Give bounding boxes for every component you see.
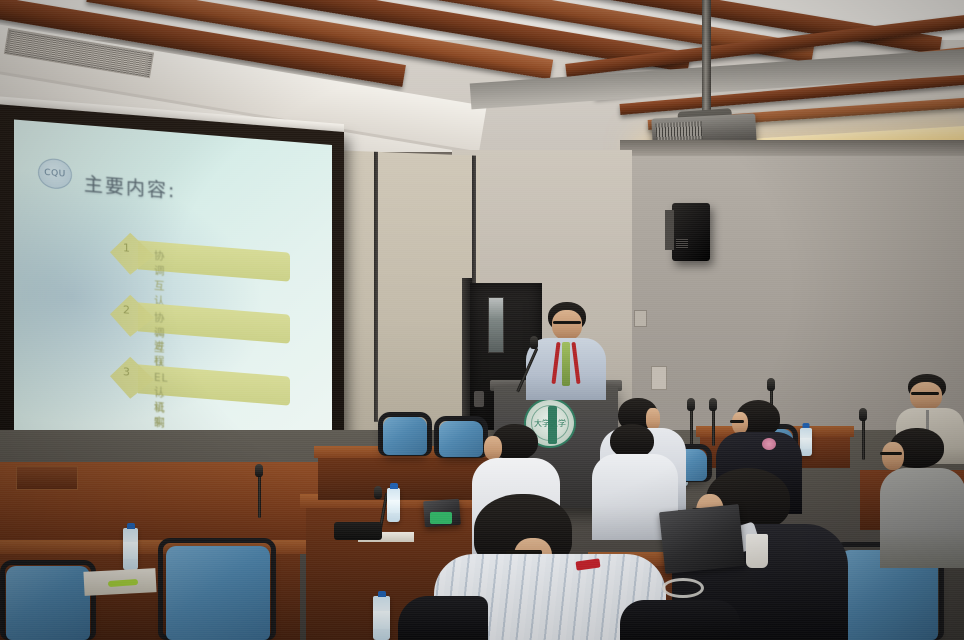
slide-surface: CQU 主要内容: 1 协调互认实施进程 2 协调互认运行机制 3 (14, 119, 332, 459)
chair-seat-3[interactable] (383, 417, 427, 455)
slide-logo-icon: CQU (38, 157, 72, 190)
slide-bullet-number-1: 1 (123, 241, 130, 255)
table-microphone-1 (258, 470, 261, 518)
door-window (488, 297, 504, 353)
presenter-tie (562, 342, 570, 386)
speaker-bracket (665, 210, 674, 250)
slide-bullet-number-2: 2 (123, 303, 130, 317)
cable-coil (662, 578, 704, 598)
table-microphone-head-2 (374, 486, 382, 499)
wall-panel-group (330, 150, 480, 456)
wall-speaker (672, 203, 710, 261)
attendee-blazer-glasses-icon (730, 420, 744, 423)
attendee-foreground-shoulder (398, 596, 488, 640)
water-bottle-1 (123, 528, 138, 570)
presenter-face (552, 310, 582, 340)
pink-flower (762, 438, 776, 450)
speaker-grille-badge (676, 239, 688, 249)
table-microphone-head-3 (687, 398, 695, 411)
table-microphone-head-5 (767, 378, 775, 391)
attendee-standing-face (910, 382, 942, 410)
bottle-cap-4 (390, 483, 398, 489)
attendee-grey-face (882, 442, 904, 470)
bottle-label-2 (373, 611, 390, 629)
wall-shadow-strip (620, 140, 964, 156)
green-device (430, 512, 452, 524)
bottle-cap-2 (378, 591, 386, 597)
podium-microphone-head (530, 336, 538, 349)
slide-logo-text: CQU (44, 168, 65, 180)
attendee-mid-hair (610, 424, 654, 458)
water-bottle-2 (373, 596, 390, 640)
laptop-1[interactable] (659, 504, 745, 574)
conference-room-photo: CQU 主要内容: 1 协调互认实施进程 2 协调互认运行机制 3 (0, 0, 964, 640)
slide-title: 主要内容: (84, 169, 176, 203)
wall-panel-plate (651, 366, 667, 390)
presenter-glasses-icon (553, 321, 581, 324)
attendee-standing-glasses-icon (911, 392, 939, 395)
attendee-blazer-face (732, 412, 748, 434)
attendee-grey-shirt-body (880, 468, 964, 568)
projection-screen: CQU 主要内容: 1 协调互认实施进程 2 协调互认运行机制 3 (0, 104, 344, 476)
water-bottle-4 (387, 488, 400, 522)
bottle-cap-1 (127, 523, 135, 529)
attendee-left-face (484, 436, 502, 460)
bottle-label-1 (123, 542, 138, 559)
chair-seat-1[interactable] (6, 566, 90, 640)
paper-cup (746, 534, 768, 568)
seal-text: 大学之学 (534, 418, 566, 429)
table-microphone-head-1 (255, 464, 263, 477)
chair-seat-2[interactable] (166, 546, 270, 640)
wall-outlet-plate (634, 310, 647, 327)
desk-phone-device (334, 522, 382, 540)
attendee-grey-glasses-icon (880, 452, 902, 455)
table-microphone-head-6 (859, 408, 867, 421)
slide-bullet-number-3: 3 (123, 365, 130, 379)
wood-wall-plaque (16, 466, 78, 490)
door-handle[interactable] (474, 391, 484, 407)
bottle-label-4 (387, 500, 400, 514)
projector-vent (656, 121, 703, 141)
wall-panel-strip-1 (374, 152, 378, 422)
attendee-foreground-shoulder-right (620, 600, 740, 640)
projector-mount-pole (702, 0, 711, 122)
attendee-grey-shirt-right (876, 428, 964, 562)
